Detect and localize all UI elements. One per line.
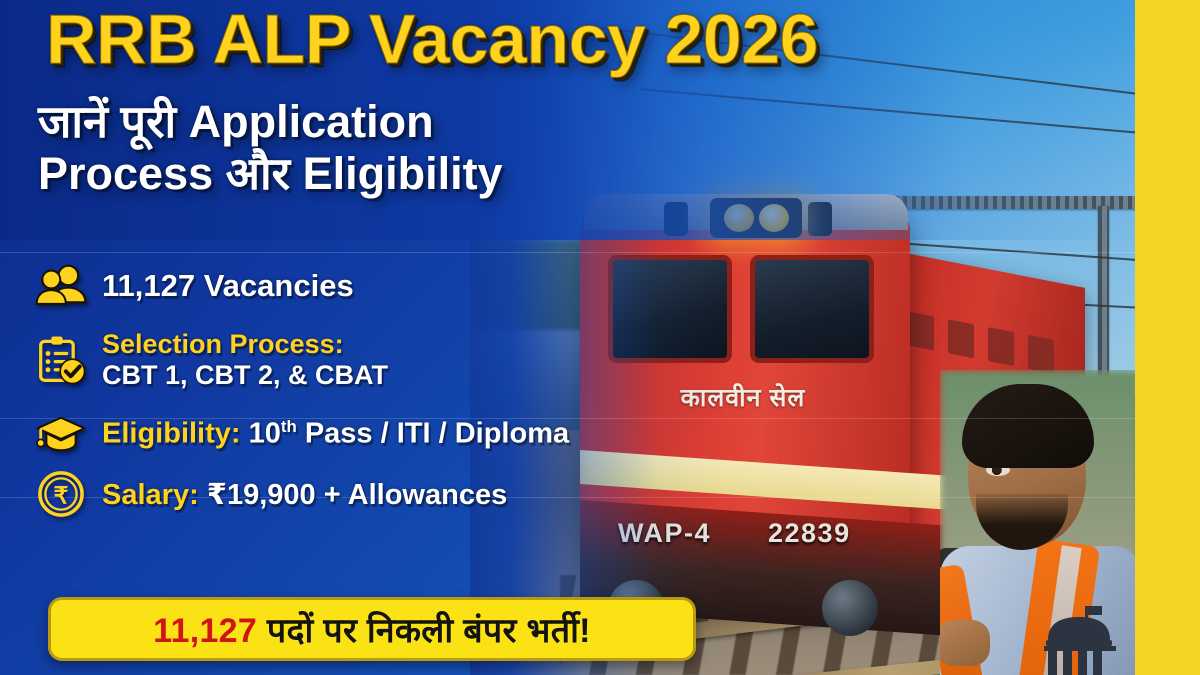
feature-vacancies: 11,127 Vacancies xyxy=(34,256,694,316)
feature-selection-process-text: Selection Process: CBT 1, CBT 2, & CBAT xyxy=(102,329,388,391)
cta-number: 11,127 xyxy=(153,612,257,650)
poster-content: RRB ALP Vacancy 2026 जानें पूरी Applicat… xyxy=(0,0,1135,675)
subtitle-line-2: Process और Eligibility xyxy=(38,148,638,200)
salary-value: ₹19,900 + Allowances xyxy=(207,479,507,511)
graduation-cap-icon xyxy=(34,407,88,461)
eligibility-value-pre: 10 xyxy=(249,418,281,450)
poster-root: कालवीन सेल WAP-4 22839 xyxy=(0,0,1200,675)
feature-list: 11,127 Vacancies Selection P xyxy=(34,256,694,524)
feature-selection-process: Selection Process: CBT 1, CBT 2, & CBAT xyxy=(34,316,694,404)
cta-rest: पदों पर निकली बंपर भर्ती! xyxy=(257,612,591,650)
selection-process-value: CBT 1, CBT 2, & CBAT xyxy=(102,360,388,390)
dome-building-logo xyxy=(1038,604,1120,675)
clipboard-check-icon xyxy=(34,333,88,387)
eligibility-label: Eligibility: xyxy=(102,418,241,450)
eligibility-value-sup: th xyxy=(281,417,297,436)
svg-text:₹: ₹ xyxy=(54,482,69,508)
cta-banner-text: 11,127 पदों पर निकली बंपर भर्ती! xyxy=(153,606,591,652)
feature-salary: ₹ Salary: ₹19,900 + Allowances xyxy=(34,464,694,524)
right-accent-strip xyxy=(1135,0,1200,675)
feature-vacancies-text: 11,127 Vacancies xyxy=(102,268,354,304)
page-title: RRB ALP Vacancy 2026 xyxy=(46,4,818,75)
selection-process-label: Selection Process: xyxy=(102,329,388,360)
subtitle: जानें पूरी Application Process और Eligib… xyxy=(38,96,638,200)
feature-eligibility: Eligibility: 10th Pass / ITI / Diploma xyxy=(34,404,694,464)
subtitle-line-1: जानें पूरी Application xyxy=(38,96,638,148)
rupee-coin-icon: ₹ xyxy=(34,467,88,521)
feature-salary-text: Salary: ₹19,900 + Allowances xyxy=(102,477,507,512)
feature-eligibility-text: Eligibility: 10th Pass / ITI / Diploma xyxy=(102,417,569,451)
eligibility-value-post: Pass / ITI / Diploma xyxy=(297,418,569,450)
cta-banner[interactable]: 11,127 पदों पर निकली बंपर भर्ती! xyxy=(48,597,696,661)
salary-label: Salary: xyxy=(102,479,199,511)
users-icon xyxy=(34,259,88,313)
